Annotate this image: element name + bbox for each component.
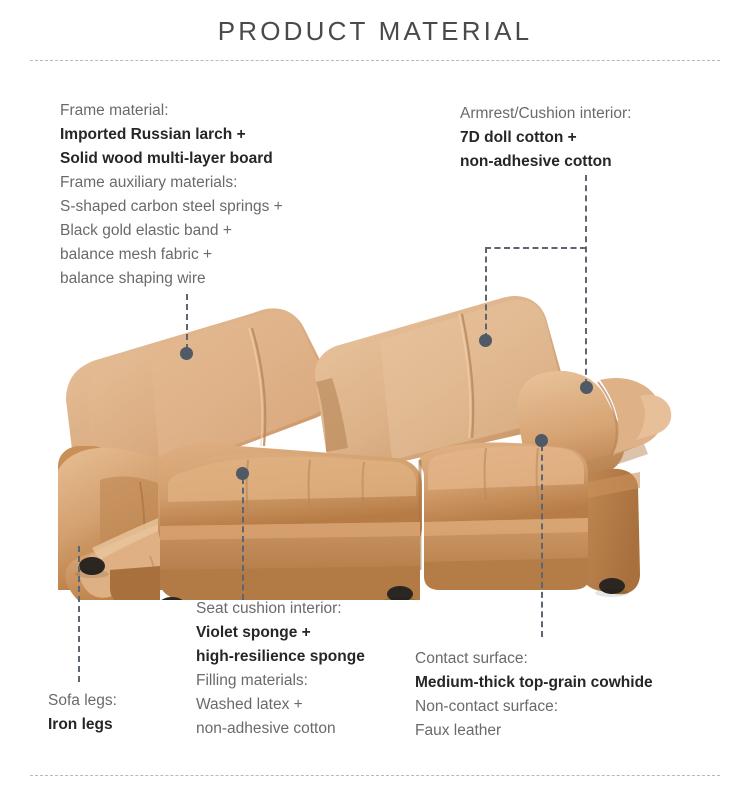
callout-line: 7D doll cotton + bbox=[460, 126, 631, 150]
marker-seat-right[interactable] bbox=[535, 434, 548, 447]
leader-line-frame bbox=[186, 294, 188, 350]
callout-line: Washed latex + bbox=[196, 693, 365, 717]
leader-line-legs bbox=[78, 546, 80, 682]
sofa-illustration bbox=[0, 270, 750, 600]
callout-seat-cushion-interior: Seat cushion interior: Violet sponge + h… bbox=[196, 597, 365, 741]
callout-line: S-shaped carbon steel springs + bbox=[60, 195, 283, 219]
callout-line: Seat cushion interior: bbox=[196, 597, 365, 621]
marker-backrest-left[interactable] bbox=[180, 347, 193, 360]
callout-line: Sofa legs: bbox=[48, 689, 117, 713]
callout-line: Faux leather bbox=[415, 719, 653, 743]
callout-line: high-resilience sponge bbox=[196, 645, 365, 669]
callout-sofa-legs: Sofa legs: Iron legs bbox=[48, 689, 117, 737]
callout-line: balance shaping wire bbox=[60, 267, 283, 291]
leader-line-armrest-branch bbox=[485, 247, 586, 249]
callout-surface-material: Contact surface: Medium-thick top-grain … bbox=[415, 647, 653, 743]
callout-line: Contact surface: bbox=[415, 647, 653, 671]
callout-line: Solid wood multi-layer board bbox=[60, 147, 283, 171]
callout-line: Violet sponge + bbox=[196, 621, 365, 645]
leader-line-armrest-drop bbox=[485, 247, 487, 339]
callout-frame-material: Frame material: Imported Russian larch +… bbox=[60, 99, 283, 291]
marker-armrest-right[interactable] bbox=[580, 381, 593, 394]
callout-line: Imported Russian larch + bbox=[60, 123, 283, 147]
page-title: PRODUCT MATERIAL bbox=[0, 16, 750, 47]
marker-backrest-right[interactable] bbox=[479, 334, 492, 347]
callout-line: Frame auxiliary materials: bbox=[60, 171, 283, 195]
callout-line: Armrest/Cushion interior: bbox=[460, 102, 631, 126]
callout-line: Filling materials: bbox=[196, 669, 365, 693]
callout-armrest-cushion-interior: Armrest/Cushion interior: 7D doll cotton… bbox=[460, 102, 631, 174]
callout-line: non-adhesive cotton bbox=[196, 717, 365, 741]
leader-line-surface bbox=[541, 445, 543, 637]
callout-line: Iron legs bbox=[48, 713, 117, 737]
divider-bottom bbox=[30, 775, 720, 776]
infographic-page: PRODUCT MATERIAL bbox=[0, 0, 750, 794]
callout-line: balance mesh fabric + bbox=[60, 243, 283, 267]
leader-line-armrest-trunk bbox=[585, 175, 587, 385]
leader-line-seat bbox=[242, 478, 244, 600]
marker-seat-left[interactable] bbox=[236, 467, 249, 480]
callout-line: Black gold elastic band + bbox=[60, 219, 283, 243]
callout-line: non-adhesive cotton bbox=[460, 150, 631, 174]
divider-top bbox=[30, 60, 720, 61]
callout-line: Non-contact surface: bbox=[415, 695, 653, 719]
callout-line: Frame material: bbox=[60, 99, 283, 123]
callout-line: Medium-thick top-grain cowhide bbox=[415, 671, 653, 695]
